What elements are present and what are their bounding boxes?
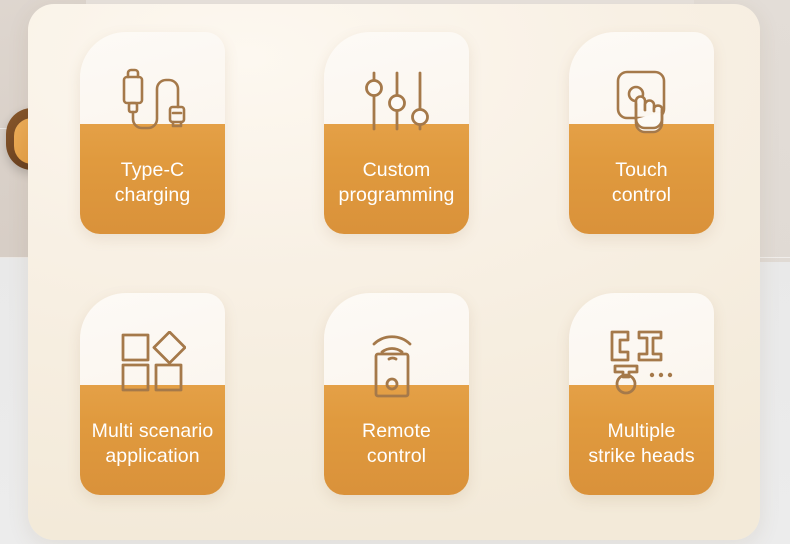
card-label-line2: charging <box>84 183 221 208</box>
product-feature-graphic: Type-C charging <box>0 0 790 544</box>
feature-card-type-c-charging[interactable]: Type-C charging <box>80 32 225 234</box>
card-label: Touch control <box>573 158 710 208</box>
feature-card-multiple-strike-heads[interactable]: Multiple strike heads <box>569 293 714 495</box>
usb-c-cable-icon <box>80 58 225 144</box>
card-label-line1: Type-C <box>121 159 184 181</box>
card-label-line1: Custom <box>363 159 431 181</box>
card-label-line1: Multiple <box>608 420 676 442</box>
card-label-line2: control <box>328 444 465 469</box>
card-label-line2: application <box>84 444 221 469</box>
card-label: Type-C charging <box>84 158 221 208</box>
card-label-line1: Remote <box>362 420 431 442</box>
card-label-line2: control <box>573 183 710 208</box>
feature-card-custom-programming[interactable]: Custom programming <box>324 32 469 234</box>
card-label: Multi scenario application <box>84 419 221 469</box>
card-label-line2: programming <box>328 183 465 208</box>
feature-card-touch-control[interactable]: Touch control <box>569 32 714 234</box>
card-label: Remote control <box>328 419 465 469</box>
card-label-line1: Touch <box>615 159 668 181</box>
card-label: Multiple strike heads <box>573 419 710 469</box>
touch-tap-icon <box>569 58 714 144</box>
feature-card-multi-scenario-application[interactable]: Multi scenario application <box>80 293 225 495</box>
card-label: Custom programming <box>328 158 465 208</box>
feature-panel: Type-C charging <box>28 4 760 540</box>
sliders-icon <box>324 58 469 144</box>
strike-heads-icon <box>569 319 714 405</box>
feature-grid: Type-C charging <box>28 4 760 540</box>
card-label-line2: strike heads <box>573 444 710 469</box>
feature-card-remote-control[interactable]: Remote control <box>324 293 469 495</box>
card-label-line1: Multi scenario <box>92 420 214 442</box>
grid-shapes-icon <box>80 319 225 405</box>
remote-signal-icon <box>324 319 469 405</box>
